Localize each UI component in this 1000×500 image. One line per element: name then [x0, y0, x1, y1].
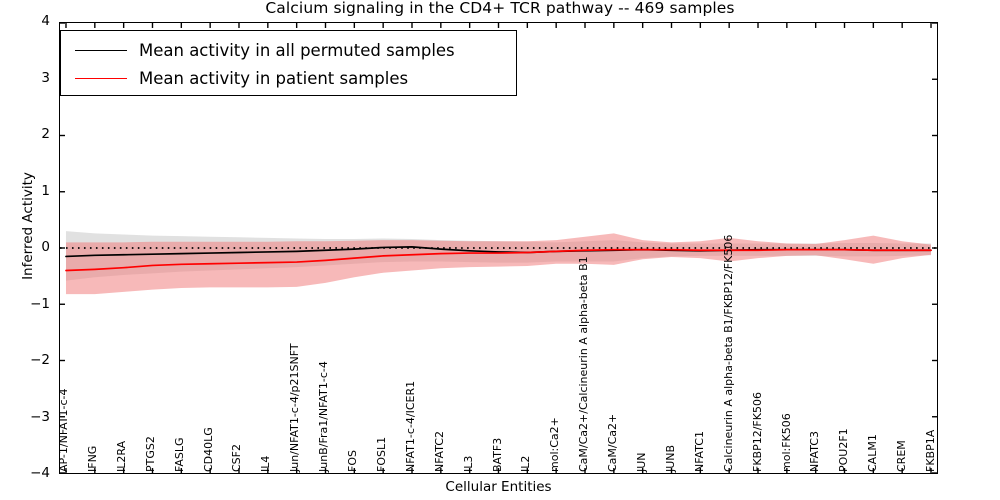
x-tick-label: AP-1/NFAT1-c-4 [58, 388, 69, 472]
x-tick-label: CaM/Ca2+ [607, 414, 618, 472]
x-tick-label: FKBP1A [925, 430, 936, 472]
x-tick-label: BATF3 [492, 438, 503, 472]
x-tick-label: Jun/NFAT1-c-4/p21SNFT [289, 343, 300, 472]
legend-item-patient: Mean activity in patient samples [61, 64, 516, 92]
x-tick-label: IL3 [463, 456, 474, 472]
x-tick-label: NFATC2 [434, 431, 445, 472]
x-tick-label: FASLG [174, 438, 185, 472]
x-tick-label: mol:FK506 [781, 413, 792, 472]
x-tick-label: CALM1 [867, 434, 878, 472]
x-tick-label: FOSL1 [376, 437, 387, 472]
x-tick-label: FOS [347, 450, 358, 472]
x-tick-label: IL2RA [116, 441, 127, 472]
x-axis-label: Cellular Entities [59, 479, 938, 495]
chart-legend: Mean activity in all permuted samples Me… [60, 30, 517, 96]
legend-label-patient: Mean activity in patient samples [139, 69, 408, 88]
x-tick-label: NFATC1 [694, 431, 705, 472]
x-tick-label: NFATC3 [809, 431, 820, 472]
chart-figure: Calcium signaling in the CD4+ TCR pathwa… [0, 0, 1000, 500]
legend-item-permuted: Mean activity in all permuted samples [61, 36, 516, 64]
x-tick-label: IL4 [260, 456, 271, 472]
x-tick-label: FKBP12/FK506 [752, 392, 763, 472]
x-tick-label: IFNG [87, 446, 98, 472]
x-tick-label: JUN [636, 452, 647, 472]
x-tick-label: POU2F1 [838, 428, 849, 472]
x-tick-label: CaM/Ca2+/Calcineurin A alpha-beta B1 [578, 256, 589, 472]
x-tick-label: CREM [896, 440, 907, 472]
x-tick-label: CD40LG [203, 427, 214, 472]
x-tick-label: CSF2 [231, 444, 242, 472]
x-tick-label: mol:Ca2+ [549, 417, 560, 472]
legend-label-permuted: Mean activity in all permuted samples [139, 41, 455, 60]
legend-line-swatch-patient [75, 78, 127, 79]
x-tick-label: JUNB [665, 445, 676, 472]
x-tick-label: Calcineurin A alpha-beta B1/FKBP12/FK506 [723, 235, 734, 472]
legend-line-swatch-permuted [75, 50, 127, 51]
x-tick-label: JunB/Fra1/NFAT1-c-4 [318, 361, 329, 472]
x-tick-label: NFAT1-c-4/ICER1 [405, 381, 416, 472]
x-tick-label: IL2 [520, 456, 531, 472]
x-tick-label: PTGS2 [145, 436, 156, 472]
